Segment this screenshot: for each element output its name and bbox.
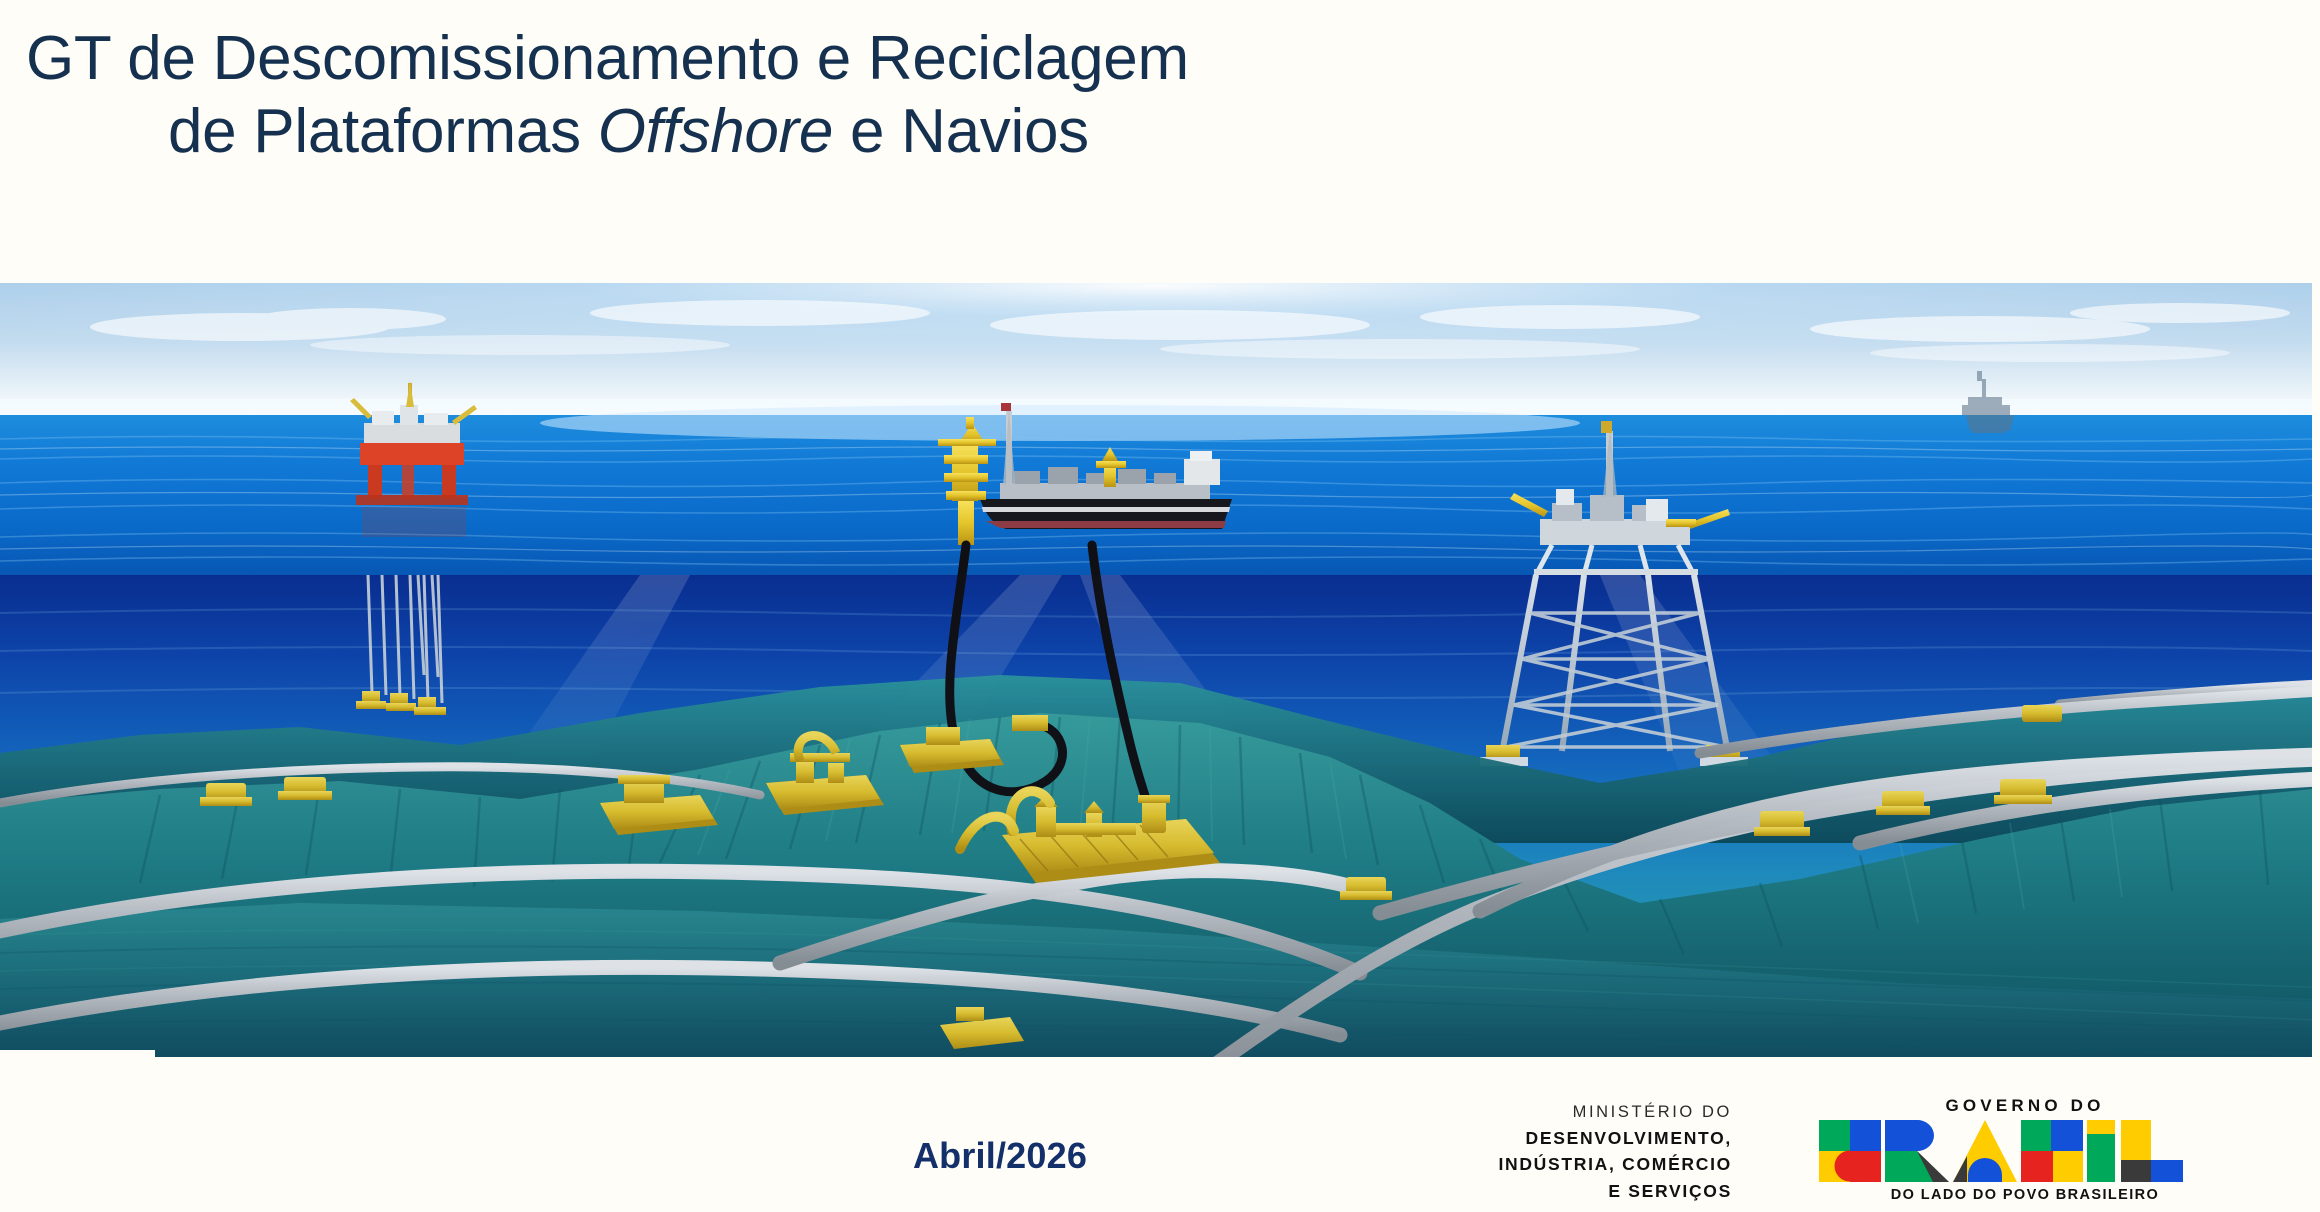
letter-s bbox=[2021, 1120, 2083, 1182]
letter-l bbox=[2121, 1120, 2183, 1182]
title-line-2: de Plataformas Offshore e Navios bbox=[26, 95, 1500, 168]
gov-logo-top-text: GOVERNO DO bbox=[1738, 1096, 2312, 1116]
page-title: GT de Descomissionamento e Reciclagem de… bbox=[0, 22, 1500, 168]
ministry-line-4: E SERVIÇOS bbox=[1432, 1178, 1732, 1205]
ministry-line-3: INDÚSTRIA, COMÉRCIO bbox=[1432, 1151, 1732, 1178]
letter-i bbox=[2087, 1120, 2115, 1182]
offshore-scene-svg bbox=[0, 283, 2312, 1057]
ministry-line-2: DESENVOLVIMENTO, bbox=[1432, 1125, 1732, 1152]
title-line-1: GT de Descomissionamento e Reciclagem bbox=[26, 22, 1500, 95]
letter-r bbox=[1885, 1120, 1949, 1182]
offshore-illustration bbox=[0, 283, 2312, 1057]
title-line-2-italic: Offshore bbox=[598, 97, 833, 166]
letter-a bbox=[1953, 1120, 2017, 1182]
brasil-wordmark-icon bbox=[1815, 1118, 2235, 1184]
ministry-line-1: MINISTÉRIO DO bbox=[1432, 1100, 1732, 1125]
title-line-2-suffix: e Navios bbox=[833, 97, 1089, 166]
title-line-2-prefix: de Plataformas bbox=[168, 97, 598, 166]
ministry-wordmark: MINISTÉRIO DO DESENVOLVIMENTO, INDÚSTRIA… bbox=[1432, 1100, 1732, 1205]
date-label: Abril/2026 bbox=[880, 1135, 1120, 1177]
gov-logo-bottom-text: DO LADO DO POVO BRASILEIRO bbox=[1738, 1187, 2312, 1203]
artwork-bottom-notch bbox=[0, 1050, 155, 1060]
government-brasil-logo: GOVERNO DO bbox=[1738, 1096, 2312, 1204]
presentation-slide: GT de Descomissionamento e Reciclagem de… bbox=[0, 0, 2320, 1212]
sky-layer bbox=[0, 283, 2312, 417]
